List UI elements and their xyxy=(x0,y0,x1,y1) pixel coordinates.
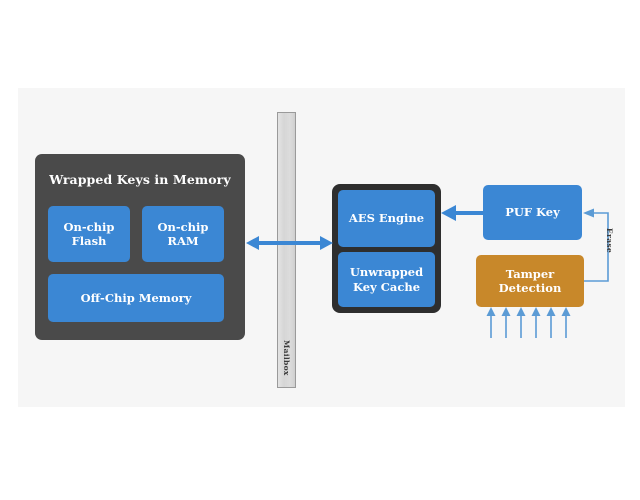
mailbox-label: Mailbox xyxy=(282,340,291,400)
node-on-chip-flash-label: On-chip Flash xyxy=(64,220,115,249)
node-tamper-detection[interactable]: Tamper Detection xyxy=(476,255,584,307)
diagram-canvas: Wrapped Keys in Memory On-chip Flash On-… xyxy=(0,0,640,500)
node-off-chip-memory-label: Off-Chip Memory xyxy=(81,291,192,305)
node-tamper-detection-line1: Tamper xyxy=(506,267,555,281)
node-unwrapped-key-cache-line1: Unwrapped xyxy=(350,265,423,279)
node-aes-engine-label: AES Engine xyxy=(349,211,424,225)
node-on-chip-flash-line2: Flash xyxy=(72,234,107,248)
node-aes-engine[interactable]: AES Engine xyxy=(338,190,435,247)
crypto-engine-group: AES Engine Unwrapped Key Cache xyxy=(332,184,441,313)
node-on-chip-ram-line1: On-chip xyxy=(158,220,209,234)
node-on-chip-ram-label: On-chip RAM xyxy=(158,220,209,249)
node-unwrapped-key-cache[interactable]: Unwrapped Key Cache xyxy=(338,252,435,307)
erase-connector-label: Erase xyxy=(605,228,614,253)
node-tamper-detection-label: Tamper Detection xyxy=(499,267,562,296)
node-puf-key[interactable]: PUF Key xyxy=(483,185,582,240)
wrapped-keys-memory-title: Wrapped Keys in Memory xyxy=(35,172,245,187)
node-on-chip-ram-line2: RAM xyxy=(167,234,198,248)
node-unwrapped-key-cache-label: Unwrapped Key Cache xyxy=(350,265,423,294)
node-tamper-detection-line2: Detection xyxy=(499,281,562,295)
node-off-chip-memory[interactable]: Off-Chip Memory xyxy=(48,274,224,322)
node-unwrapped-key-cache-line2: Key Cache xyxy=(353,280,420,294)
node-on-chip-flash[interactable]: On-chip Flash xyxy=(48,206,130,262)
node-on-chip-flash-line1: On-chip xyxy=(64,220,115,234)
wrapped-keys-memory-group: Wrapped Keys in Memory On-chip Flash On-… xyxy=(35,154,245,340)
node-puf-key-label: PUF Key xyxy=(505,205,560,219)
node-on-chip-ram[interactable]: On-chip RAM xyxy=(142,206,224,262)
